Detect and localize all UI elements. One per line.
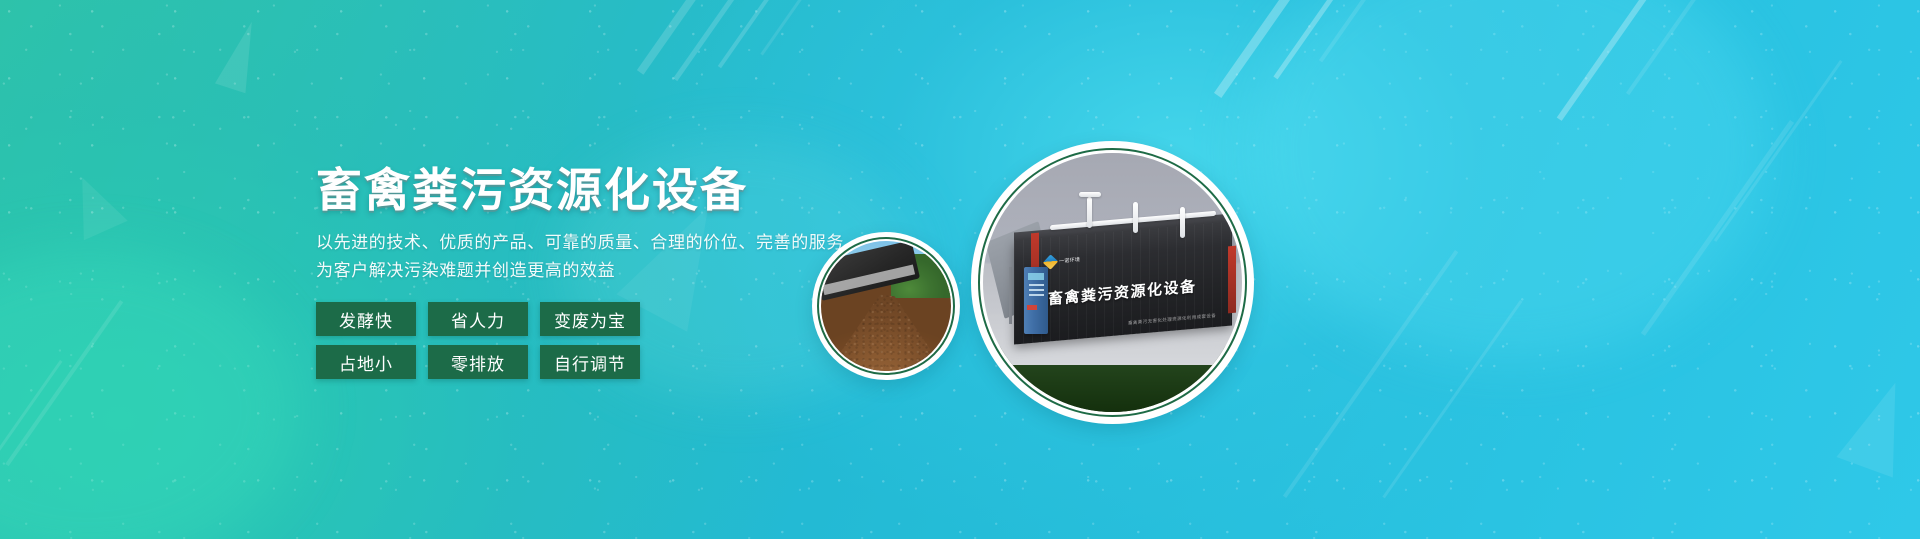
cabinet-screen	[1028, 273, 1045, 280]
pipe-riser	[1133, 202, 1138, 233]
feature-tag-self-adjusting[interactable]: 自行调节	[540, 345, 640, 379]
feature-tag-waste-to-treasure[interactable]: 变废为宝	[540, 302, 640, 336]
hero-banner: 畜禽粪污资源化设备 以先进的技术、优质的产品、可靠的质量、合理的价位、完善的服务…	[0, 0, 1920, 539]
compost-pile	[821, 290, 951, 371]
deco-bar	[5, 300, 123, 466]
page-title: 畜禽粪污资源化设备	[316, 163, 936, 217]
deco-triangle	[60, 168, 127, 241]
pipe-riser	[1087, 197, 1092, 228]
compost-texture	[821, 290, 951, 371]
pipe-cap	[1079, 192, 1101, 197]
deco-bar	[1214, 0, 1307, 98]
cabinet-buttons	[1029, 284, 1044, 296]
deco-bar	[1714, 60, 1843, 242]
conveyor-leg	[1009, 267, 1012, 324]
compost-pile-image	[821, 241, 951, 371]
feature-tag-zero-emission[interactable]: 零排放	[428, 345, 528, 379]
deco-triangle	[215, 17, 267, 93]
equipment-3d-image: 一诺环境 畜禽粪污资源化设备 畜禽粪污无害化处理资源化利用成套设备	[983, 153, 1242, 412]
deco-bar	[637, 0, 707, 75]
deco-bar	[673, 0, 746, 81]
deco-bar	[1557, 0, 1665, 121]
equipment-render-circle: 一诺环境 畜禽粪污资源化设备 畜禽粪污无害化处理资源化利用成套设备	[971, 141, 1254, 424]
deco-bar	[1283, 250, 1458, 498]
render-scene: 一诺环境 畜禽粪污资源化设备 畜禽粪污无害化处理资源化利用成套设备	[983, 153, 1242, 412]
grass-strip	[983, 365, 1242, 412]
feature-tag-fast-fermentation[interactable]: 发酵快	[316, 302, 416, 336]
background-speckle-texture	[0, 0, 1920, 539]
feature-tag-small-footprint[interactable]: 占地小	[316, 345, 416, 379]
deco-bar	[760, 0, 814, 55]
deco-bar	[1641, 120, 1794, 336]
deco-bar	[718, 0, 782, 68]
deco-bar	[1626, 0, 1715, 95]
deco-bar	[1273, 0, 1352, 79]
logo-company-name: 一诺环境	[1059, 256, 1080, 265]
compost-photo-circle	[812, 232, 960, 380]
pipe-riser	[1180, 207, 1185, 238]
glow-left	[0, 250, 300, 539]
cabinet-red-label	[1027, 305, 1038, 310]
feature-tag-labor-saving[interactable]: 省人力	[428, 302, 528, 336]
company-logo-badge: 一诺环境	[1045, 248, 1092, 273]
deco-bar	[1319, 0, 1385, 62]
deco-bar	[1382, 300, 1522, 498]
control-cabinet	[1024, 267, 1047, 334]
background-decoration-layer	[0, 0, 1920, 539]
deco-bar	[0, 360, 62, 493]
deco-triangle	[1836, 372, 1920, 477]
glow-right	[1250, 0, 1770, 360]
